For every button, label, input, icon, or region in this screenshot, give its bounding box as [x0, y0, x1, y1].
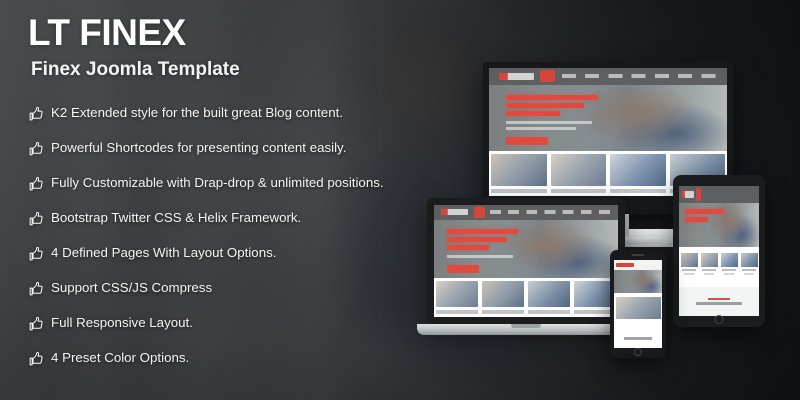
site-logo: [441, 209, 468, 215]
grid-thumbnail: [528, 281, 570, 307]
card-item: [701, 253, 718, 275]
card-item: [616, 297, 661, 319]
site-topbar: [614, 260, 662, 270]
thumbs-up-icon: [28, 106, 44, 122]
phone-cta-band: [614, 329, 662, 348]
grid-caption: [436, 310, 478, 314]
feature-list: K2 Extended style for the built great Bl…: [28, 96, 400, 376]
grid-thumbnail: [551, 154, 607, 186]
feature-label: Full Responsive Layout.: [51, 316, 193, 331]
laptop-lid: [427, 198, 625, 324]
site-hero: [679, 203, 759, 247]
feature-label: Fully Customizable with Drap-drop & unli…: [51, 176, 384, 191]
tablet-card-row: [679, 251, 759, 277]
thumbs-up-icon: [28, 351, 44, 367]
thumbs-up-icon: [28, 141, 44, 157]
grid-item: [436, 281, 478, 314]
feature-label: Powerful Shortcodes for presenting conte…: [51, 141, 346, 156]
device-mockup-group: [395, 0, 800, 400]
feature-label: 4 Preset Color Options.: [51, 351, 189, 366]
product-subtitle: Finex Joomla Template: [31, 60, 240, 79]
feature-item: K2 Extended style for the built great Bl…: [28, 96, 400, 131]
site-hero-copy: [506, 95, 606, 145]
thumbs-up-icon: [28, 211, 44, 227]
grid-item: [551, 154, 607, 193]
card-image: [741, 253, 758, 267]
site-nav: [562, 74, 718, 78]
laptop-screen-preview: [434, 205, 618, 317]
site-topbar: [489, 68, 727, 85]
hero-headline-line: [447, 237, 507, 242]
tablet-screen-preview: [679, 186, 759, 316]
feature-item: Powerful Shortcodes for presenting conte…: [28, 131, 400, 166]
tablet-home-button[interactable]: [715, 315, 724, 324]
card-image: [721, 253, 738, 267]
site-hero: [489, 85, 727, 152]
site-logo: [682, 191, 694, 198]
grid-caption: [528, 310, 570, 314]
lt-finex-promo-banner: LT FINEX Finex Joomla Template K2 Extend…: [0, 0, 800, 400]
thumbs-up-icon: [28, 246, 44, 262]
site-logo-badge: [474, 207, 486, 218]
hero-subtext-line: [447, 255, 513, 258]
card-image: [616, 297, 661, 319]
feature-label: Support CSS/JS Compress: [51, 281, 212, 296]
hero-headline-line: [506, 111, 560, 116]
grid-caption: [482, 310, 524, 314]
grid-thumbnail: [436, 281, 478, 307]
laptop-macbook-mockup: [417, 198, 635, 350]
phone-card-row: [614, 295, 662, 321]
hero-headline-line: [685, 217, 708, 222]
feature-label: Bootstrap Twitter CSS & Helix Framework.: [51, 211, 301, 226]
site-logo-badge: [696, 188, 701, 200]
laptop-notch: [511, 324, 541, 328]
hero-cta-button[interactable]: [447, 265, 479, 273]
grid-thumbnail: [610, 154, 666, 186]
card-line: [682, 269, 696, 271]
phone-iphone-mockup: [610, 250, 666, 358]
phone-speaker: [632, 254, 645, 256]
feature-label: 4 Defined Pages With Layout Options.: [51, 246, 276, 261]
card-line: [742, 269, 756, 271]
card-line: [722, 269, 736, 271]
grid-item: [528, 281, 570, 314]
hero-headline-line: [506, 95, 598, 100]
grid-caption: [551, 189, 607, 193]
band-line: [708, 298, 730, 300]
marketing-copy-block: LT FINEX Finex Joomla Template K2 Extend…: [0, 0, 400, 400]
hero-headline-line: [506, 103, 584, 108]
tablet-cta-band: [679, 287, 759, 316]
card-line: [702, 269, 716, 271]
feature-item: 4 Defined Pages With Layout Options.: [28, 236, 400, 271]
site-hero-copy: [447, 229, 524, 273]
hero-headline-line: [685, 209, 725, 214]
thumbs-up-icon: [28, 176, 44, 192]
hero-cta-button[interactable]: [506, 137, 548, 145]
card-line: [684, 273, 695, 275]
hero-headline-line: [447, 245, 489, 250]
card-line: [724, 273, 735, 275]
grid-item: [610, 154, 666, 193]
site-topbar: [434, 205, 618, 220]
feature-item: 4 Preset Color Options.: [28, 341, 400, 376]
feature-item: Support CSS/JS Compress: [28, 271, 400, 306]
site-topbar: [679, 186, 759, 203]
grid-thumbnail: [491, 154, 547, 186]
site-hero-copy: [685, 209, 728, 225]
card-image: [701, 253, 718, 267]
grid-caption: [491, 189, 547, 193]
card-item: [681, 253, 698, 275]
thumbs-up-icon: [28, 281, 44, 297]
feature-item: Bootstrap Twitter CSS & Helix Framework.: [28, 201, 400, 236]
product-title: LT FINEX: [28, 14, 186, 51]
card-line: [704, 273, 715, 275]
hero-subtext-line: [506, 121, 592, 124]
site-logo: [616, 263, 634, 267]
card-item: [741, 253, 758, 275]
card-image: [681, 253, 698, 267]
hero-subtext-line: [506, 127, 576, 130]
card-line: [744, 273, 755, 275]
grid-item: [491, 154, 547, 193]
site-logo-badge: [540, 70, 555, 82]
grid-caption: [610, 189, 666, 193]
site-hero: [614, 270, 662, 293]
site-logo: [499, 73, 534, 80]
site-hero: [434, 220, 618, 278]
feature-item: Full Responsive Layout.: [28, 306, 400, 341]
band-line: [696, 302, 742, 305]
feature-item: Fully Customizable with Drap-drop & unli…: [28, 166, 400, 201]
tablet-ipad-mockup: [673, 175, 765, 327]
grid-item: [482, 281, 524, 314]
band-line: [624, 337, 652, 340]
tablet-body: [673, 175, 765, 327]
thumbs-up-icon: [28, 316, 44, 332]
phone-screen-preview: [614, 260, 662, 348]
site-nav: [490, 210, 610, 214]
hero-headline-line: [447, 229, 518, 234]
grid-thumbnail: [482, 281, 524, 307]
feature-label: K2 Extended style for the built great Bl…: [51, 106, 343, 121]
site-image-grid: [434, 278, 618, 317]
card-item: [721, 253, 738, 275]
phone-body: [610, 250, 666, 358]
phone-home-button[interactable]: [634, 348, 642, 356]
